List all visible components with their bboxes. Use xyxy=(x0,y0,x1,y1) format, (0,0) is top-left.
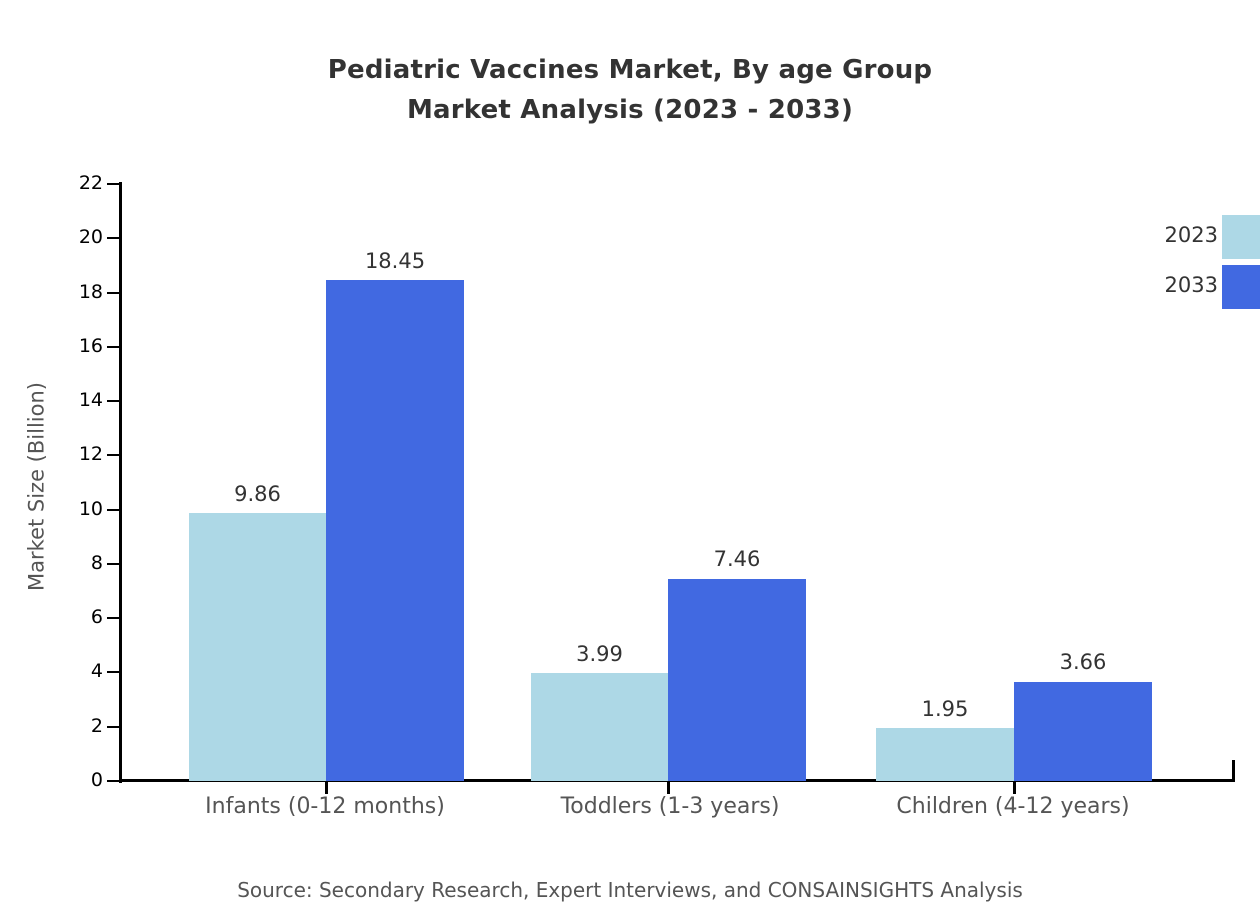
y-axis-tick-2 xyxy=(107,726,120,728)
y-axis-tick-label-2: 2 xyxy=(43,717,103,736)
y-axis-tick-20 xyxy=(107,237,120,239)
chart-title-line1: Pediatric Vaccines Market, By age Group xyxy=(328,55,932,85)
legend-swatch-2023 xyxy=(1222,215,1260,259)
y-axis-tick-18 xyxy=(107,292,120,294)
y-axis-tick-label-4: 4 xyxy=(43,662,103,681)
y-axis-tick-14 xyxy=(107,400,120,402)
x-axis-tick-toddlers xyxy=(667,781,670,794)
bar-label-2023-children: 1.95 xyxy=(876,699,1014,720)
y-axis-tick-label-6: 6 xyxy=(43,608,103,627)
x-axis-label-children: Children (4-12 years) xyxy=(843,794,1183,820)
y-axis-tick-label-16: 16 xyxy=(43,337,103,356)
chart-legend: 2023 2033 xyxy=(1125,215,1260,315)
y-axis-tick-8 xyxy=(107,563,120,565)
legend-label-2023: 2023 xyxy=(1165,225,1218,246)
source-note: Source: Secondary Research, Expert Inter… xyxy=(0,878,1260,902)
y-axis-tick-6 xyxy=(107,617,120,619)
y-axis-tick-4 xyxy=(107,671,120,673)
bar-2023-toddlers[interactable] xyxy=(531,673,668,781)
bar-2033-toddlers[interactable] xyxy=(668,579,806,781)
x-axis-label-toddlers: Toddlers (1-3 years) xyxy=(500,794,840,820)
y-axis-title: Market Size (Billion) xyxy=(27,247,48,727)
y-axis-tick-label-0: 0 xyxy=(43,771,103,790)
bar-label-2033-infants: 18.45 xyxy=(326,251,464,272)
x-axis-tick-children xyxy=(1013,781,1016,794)
bar-2023-infants[interactable] xyxy=(189,513,326,781)
bar-label-2023-infants: 9.86 xyxy=(189,484,326,505)
bar-label-2033-children: 3.66 xyxy=(1014,652,1152,673)
y-axis-tick-label-20: 20 xyxy=(43,228,103,247)
y-axis-tick-label-18: 18 xyxy=(43,283,103,302)
y-axis-tick-label-14: 14 xyxy=(43,391,103,410)
y-axis-tick-10 xyxy=(107,509,120,511)
y-axis-tick-label-10: 10 xyxy=(43,500,103,519)
y-axis-tick-12 xyxy=(107,454,120,456)
legend-swatch-2033 xyxy=(1222,265,1260,309)
y-axis-tick-22 xyxy=(107,183,120,185)
legend-item-2033[interactable]: 2033 xyxy=(1125,265,1260,315)
legend-item-2023[interactable]: 2023 xyxy=(1125,215,1260,265)
bar-label-2023-toddlers: 3.99 xyxy=(531,644,668,665)
y-axis-tick-16 xyxy=(107,346,120,348)
y-axis-tick-label-12: 12 xyxy=(43,445,103,464)
x-axis-tick-infants xyxy=(325,781,328,794)
bar-2023-children[interactable] xyxy=(876,728,1014,781)
y-axis-tick-label-8: 8 xyxy=(43,554,103,573)
x-axis-label-infants: Infants (0-12 months) xyxy=(155,794,495,820)
bar-2033-children[interactable] xyxy=(1014,682,1152,781)
bar-label-2033-toddlers: 7.46 xyxy=(668,549,806,570)
plot-area xyxy=(121,184,1233,781)
legend-label-2033: 2033 xyxy=(1165,275,1218,296)
bar-2033-infants[interactable] xyxy=(326,280,464,781)
page-title: Pediatric Vaccines Market, By age Group … xyxy=(0,50,1260,130)
y-axis-tick-0 xyxy=(107,780,120,782)
y-axis-tick-label-22: 22 xyxy=(43,174,103,193)
chart-title-line2: Market Analysis (2023 - 2033) xyxy=(0,90,1260,130)
